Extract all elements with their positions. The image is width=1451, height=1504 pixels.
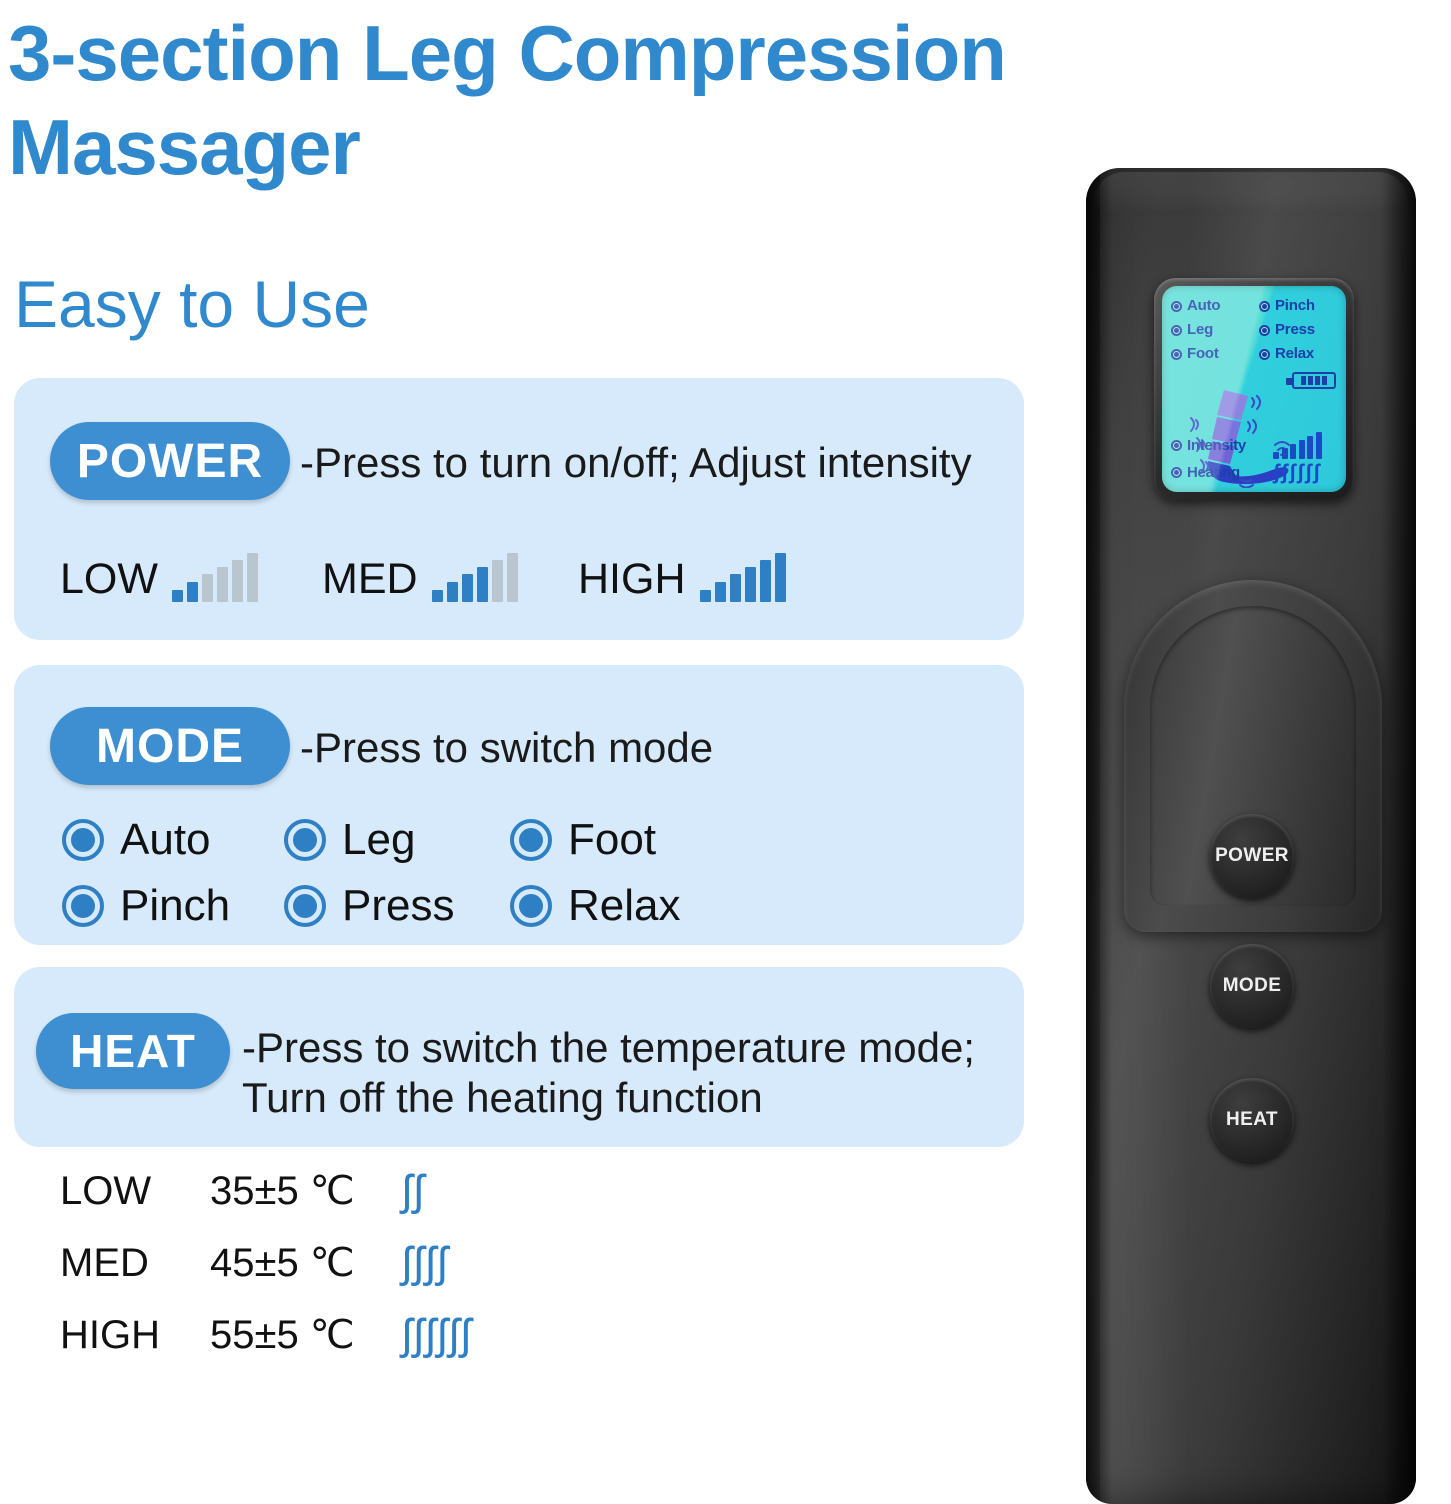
lcd-radio-icon xyxy=(1259,325,1270,336)
heat-wave-icon: ʃʃʃʃ xyxy=(402,1241,447,1285)
lcd-mode-label: Auto xyxy=(1187,298,1220,314)
signal-bar xyxy=(172,590,183,602)
device-top-bevel xyxy=(1094,172,1408,212)
mode-option-label: Foot xyxy=(568,816,656,864)
power-description: -Press to turn on/off; Adjust intensity xyxy=(300,438,1000,488)
power-level-label: MED xyxy=(322,556,418,602)
lcd-intensity-bar xyxy=(1316,432,1322,459)
lcd-heating-radio-icon xyxy=(1171,467,1182,478)
device-left-shadow xyxy=(1086,168,1112,1504)
device-body: AutoLegFoot PinchPressRelax xyxy=(1086,168,1416,1504)
lcd-screen: AutoLegFoot PinchPressRelax xyxy=(1162,286,1346,492)
mode-option-foot[interactable]: Foot xyxy=(510,816,656,864)
heat-wave-glyph: ʃ xyxy=(402,1241,412,1285)
temperature-value: 45±5 ℃ xyxy=(210,1240,402,1286)
signal-bar xyxy=(187,582,198,602)
heat-temperature-table: LOW35±5 ℃ʃʃMED45±5 ℃ʃʃʃʃHIGH55±5 ℃ʃʃʃʃʃʃ xyxy=(60,1155,660,1371)
heat-wave-glyph: ʃ xyxy=(426,1241,436,1285)
temperature-row: MED45±5 ℃ʃʃʃʃ xyxy=(60,1227,660,1299)
lcd-mode-column-right: PinchPressRelax xyxy=(1259,294,1315,366)
radio-selected-icon[interactable] xyxy=(62,819,104,861)
signal-bar xyxy=(507,553,518,602)
signal-bar xyxy=(492,560,503,602)
device-heat-button[interactable]: HEAT xyxy=(1210,1078,1294,1162)
device-mode-button[interactable]: MODE xyxy=(1210,944,1294,1028)
signal-bar xyxy=(700,590,711,602)
temperature-value: 35±5 ℃ xyxy=(210,1168,402,1214)
temperature-value: 55±5 ℃ xyxy=(210,1312,402,1358)
mode-option-row: AutoLegFoot xyxy=(62,807,992,873)
heat-wave-glyph: ʃ xyxy=(414,1169,424,1213)
lcd-mode-auto: Auto xyxy=(1171,294,1220,318)
mode-pill-label: MODE xyxy=(96,719,244,774)
signal-bar xyxy=(217,567,228,602)
radio-selected-icon[interactable] xyxy=(510,819,552,861)
lcd-intensity-bars-icon xyxy=(1273,433,1322,459)
mode-option-leg[interactable]: Leg xyxy=(284,816,510,864)
lcd-radio-icon xyxy=(1171,301,1182,312)
signal-bar xyxy=(247,553,258,602)
lcd-mode-pinch: Pinch xyxy=(1259,294,1315,318)
lcd-radio-icon xyxy=(1171,325,1182,336)
page-title: 3-section Leg Compression Massager xyxy=(8,6,1318,194)
power-panel: POWER -Press to turn on/off; Adjust inte… xyxy=(14,378,1024,640)
device-right-shadow xyxy=(1382,168,1416,1504)
power-level-med: MED xyxy=(322,528,518,602)
mode-option-label: Leg xyxy=(342,816,415,864)
signal-bar xyxy=(447,582,458,602)
signal-bar xyxy=(432,590,443,602)
radio-selected-icon[interactable] xyxy=(284,819,326,861)
mode-pill-badge: MODE xyxy=(50,707,290,785)
lcd-heating-waves-icon: ʃʃʃʃʃʃ xyxy=(1273,462,1320,483)
heat-wave-glyph: ʃ xyxy=(414,1241,424,1285)
lcd-radio-icon xyxy=(1259,301,1270,312)
lcd-mode-press: Press xyxy=(1259,318,1315,342)
lcd-bezel: AutoLegFoot PinchPressRelax xyxy=(1154,278,1354,500)
lcd-heating-wave-glyph: ʃ xyxy=(1305,462,1312,483)
lcd-mode-label: Pinch xyxy=(1275,298,1315,314)
signal-bar xyxy=(730,574,741,602)
lcd-heating-wave-glyph: ʃ xyxy=(1313,462,1320,483)
lcd-mode-foot: Foot xyxy=(1171,342,1220,366)
signal-bar xyxy=(775,553,786,602)
heat-wave-glyph: ʃ xyxy=(402,1313,412,1357)
mode-option-auto[interactable]: Auto xyxy=(62,816,284,864)
power-pill-badge: POWER xyxy=(50,422,290,500)
power-intensity-levels: LOWMEDHIGH xyxy=(60,528,1000,608)
mode-option-press[interactable]: Press xyxy=(284,882,510,930)
signal-bars-icon xyxy=(432,554,518,602)
power-level-label: HIGH xyxy=(578,556,686,602)
heat-wave-glyph: ʃ xyxy=(402,1169,412,1213)
mode-option-row: PinchPressRelax xyxy=(62,873,992,939)
mode-option-label: Press xyxy=(342,882,454,930)
signal-bar xyxy=(232,560,243,602)
mode-panel: MODE -Press to switch mode AutoLegFootPi… xyxy=(14,665,1024,945)
signal-bar xyxy=(477,567,488,602)
lcd-heating-wave-glyph: ʃ xyxy=(1273,462,1280,483)
heat-wave-icon: ʃʃ xyxy=(402,1169,424,1213)
lcd-radio-icon xyxy=(1259,349,1270,360)
lcd-mode-relax: Relax xyxy=(1259,342,1315,366)
lcd-mode-label: Leg xyxy=(1187,322,1213,338)
heat-wave-icon: ʃʃʃʃʃʃ xyxy=(402,1313,471,1357)
lcd-heating-row: Heating ʃʃʃʃʃʃ xyxy=(1171,459,1346,486)
signal-bar xyxy=(715,582,726,602)
lcd-status-rows: Intensity Heating ʃʃʃʃʃʃ xyxy=(1171,432,1346,486)
radio-selected-icon[interactable] xyxy=(62,885,104,927)
radio-selected-icon[interactable] xyxy=(284,885,326,927)
lcd-mode-leg: Leg xyxy=(1171,318,1220,342)
heat-wave-glyph: ʃ xyxy=(437,1313,447,1357)
temperature-level: MED xyxy=(60,1241,210,1286)
heat-description: -Press to switch the temperature mode; T… xyxy=(242,1023,1032,1123)
heat-wave-glyph: ʃ xyxy=(449,1313,459,1357)
lcd-radio-icon xyxy=(1171,349,1182,360)
lcd-mode-column-left: AutoLegFoot xyxy=(1171,294,1220,366)
lcd-intensity-bar xyxy=(1273,452,1279,459)
heat-wave-glyph: ʃ xyxy=(426,1313,436,1357)
mode-option-grid: AutoLegFootPinchPressRelax xyxy=(62,807,992,939)
massager-controller-device: AutoLegFoot PinchPressRelax xyxy=(1086,168,1416,1504)
power-level-label: LOW xyxy=(60,556,158,602)
mode-option-pinch[interactable]: Pinch xyxy=(62,882,284,930)
power-level-low: LOW xyxy=(60,528,258,602)
mode-option-label: Relax xyxy=(568,882,681,930)
lcd-heating-label: Heating xyxy=(1187,465,1273,481)
signal-bar xyxy=(760,560,771,602)
page-subtitle: Easy to Use xyxy=(14,268,370,340)
heat-wave-glyph: ʃ xyxy=(461,1313,471,1357)
lcd-intensity-bar xyxy=(1290,444,1296,459)
lcd-intensity-label: Intensity xyxy=(1187,438,1273,454)
heat-pill-badge: HEAT xyxy=(36,1013,230,1089)
power-level-high: HIGH xyxy=(578,528,786,602)
mode-description: -Press to switch mode xyxy=(300,723,1000,773)
heat-pill-label: HEAT xyxy=(70,1024,196,1078)
lcd-heating-wave-glyph: ʃ xyxy=(1289,462,1296,483)
lcd-mode-label: Foot xyxy=(1187,346,1219,362)
lcd-heating-wave-glyph: ʃ xyxy=(1281,462,1288,483)
temperature-row: HIGH55±5 ℃ʃʃʃʃʃʃ xyxy=(60,1299,660,1371)
heat-panel: HEAT -Press to switch the temperature mo… xyxy=(14,967,1024,1147)
signal-bars-icon xyxy=(700,554,786,602)
lcd-intensity-bar xyxy=(1282,448,1288,459)
infographic-page: 3-section Leg Compression Massager Easy … xyxy=(0,0,1451,1500)
signal-bars-icon xyxy=(172,554,258,602)
signal-bar xyxy=(202,574,213,602)
signal-bar xyxy=(745,567,756,602)
temperature-row: LOW35±5 ℃ʃʃ xyxy=(60,1155,660,1227)
lcd-mode-label: Press xyxy=(1275,322,1315,338)
radio-selected-icon[interactable] xyxy=(510,885,552,927)
lcd-heating-wave-glyph: ʃ xyxy=(1297,462,1304,483)
temperature-level: LOW xyxy=(60,1169,210,1214)
device-power-button[interactable]: POWER xyxy=(1210,814,1294,898)
lcd-intensity-bar xyxy=(1307,436,1313,459)
mode-option-label: Pinch xyxy=(120,882,230,930)
signal-bar xyxy=(462,574,473,602)
lcd-intensity-bar xyxy=(1299,440,1305,459)
lcd-mode-label: Relax xyxy=(1275,346,1314,362)
lcd-intensity-row: Intensity xyxy=(1171,432,1346,459)
heat-wave-glyph: ʃ xyxy=(414,1313,424,1357)
mode-option-relax[interactable]: Relax xyxy=(510,882,681,930)
mode-option-label: Auto xyxy=(120,816,211,864)
power-pill-label: POWER xyxy=(77,434,263,489)
lcd-intensity-radio-icon xyxy=(1171,440,1182,451)
temperature-level: HIGH xyxy=(60,1313,210,1358)
heat-wave-glyph: ʃ xyxy=(437,1241,447,1285)
